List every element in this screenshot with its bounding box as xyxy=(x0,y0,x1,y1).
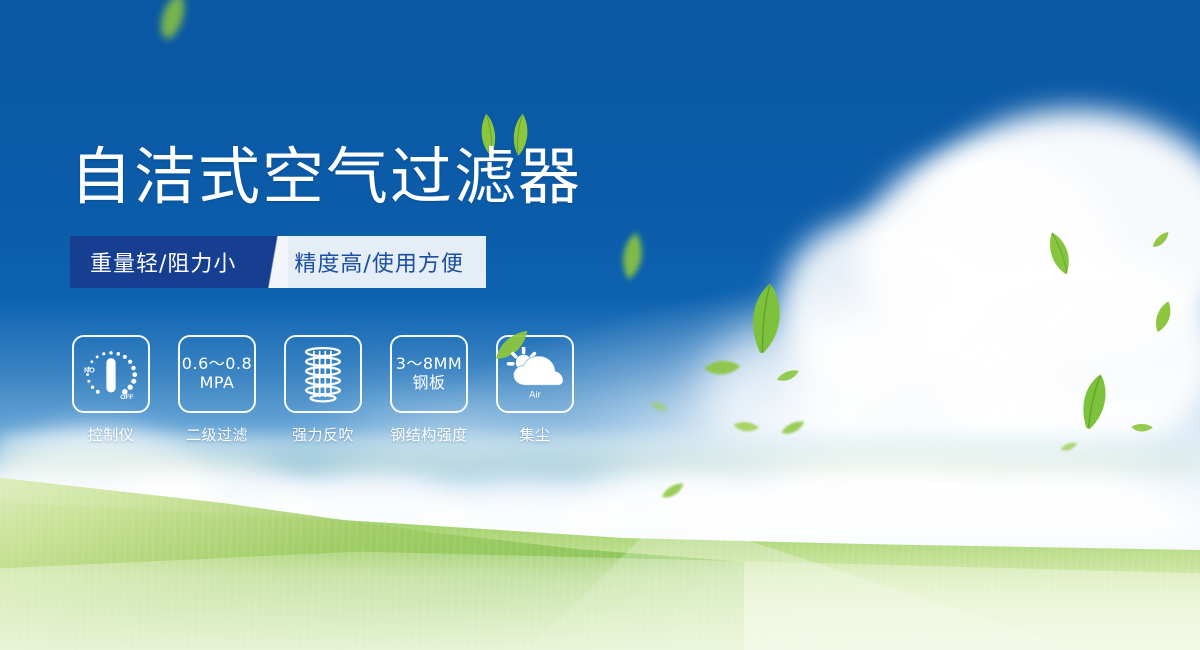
feature-label: 强力反吹 xyxy=(292,424,354,445)
feature-icon-box: NO OFF xyxy=(72,335,150,413)
feature-label: 集尘 xyxy=(519,424,550,445)
banner-content: 自洁式空气过滤器 重量轻/阻力小 精度高/使用方便 xyxy=(0,0,1200,650)
feature-item-pressure[interactable]: 0.6～0.8 MPA 二级过滤 xyxy=(178,335,256,445)
feature-item-dust[interactable]: Air 集尘 xyxy=(496,335,574,445)
feature-icon-box xyxy=(284,335,362,413)
feature-item-blowback[interactable]: 强力反吹 xyxy=(284,335,362,445)
feature-icon-box: 0.6～0.8 MPA xyxy=(178,335,256,413)
subtitle-bar: 重量轻/阻力小 精度高/使用方便 xyxy=(70,236,486,288)
feature-item-steel[interactable]: 3～8MM 钢板 钢结构强度 xyxy=(390,335,468,445)
subtitle-left: 重量轻/阻力小 xyxy=(70,236,262,288)
steel-thickness: 3～8MM xyxy=(396,355,462,374)
pressure-unit: MPA xyxy=(182,374,252,393)
steel-material: 钢板 xyxy=(396,374,462,393)
pressure-range: 0.6～0.8 xyxy=(182,355,252,374)
gauge-no-label: NO xyxy=(84,366,95,375)
coil-filter-icon xyxy=(294,343,352,405)
subtitle-divider xyxy=(262,236,288,288)
gauge-off-label: OFF xyxy=(120,394,133,401)
steel-plate-text-icon: 3～8MM 钢板 xyxy=(396,355,462,393)
product-banner: 自洁式空气过滤器 重量轻/阻力小 精度高/使用方便 xyxy=(0,0,1200,650)
feature-icon-box: 3～8MM 钢板 xyxy=(390,335,468,413)
feature-item-control[interactable]: NO OFF 控制仪 xyxy=(72,335,150,445)
feature-label: 钢结构强度 xyxy=(390,424,468,445)
air-label: Air xyxy=(529,389,542,400)
subtitle-right: 精度高/使用方便 xyxy=(288,236,485,288)
feature-label: 控制仪 xyxy=(88,424,135,445)
feature-list: NO OFF 控制仪 0.6～0.8 MPA 二级过滤 xyxy=(72,335,574,445)
feature-icon-box: Air xyxy=(496,335,574,413)
cloud-air-icon: Air xyxy=(505,347,565,401)
feature-label: 二级过滤 xyxy=(186,424,248,445)
gauge-dial-icon: NO OFF xyxy=(78,341,144,407)
page-title: 自洁式空气过滤器 xyxy=(70,146,582,208)
pressure-text-icon: 0.6～0.8 MPA xyxy=(182,355,252,393)
